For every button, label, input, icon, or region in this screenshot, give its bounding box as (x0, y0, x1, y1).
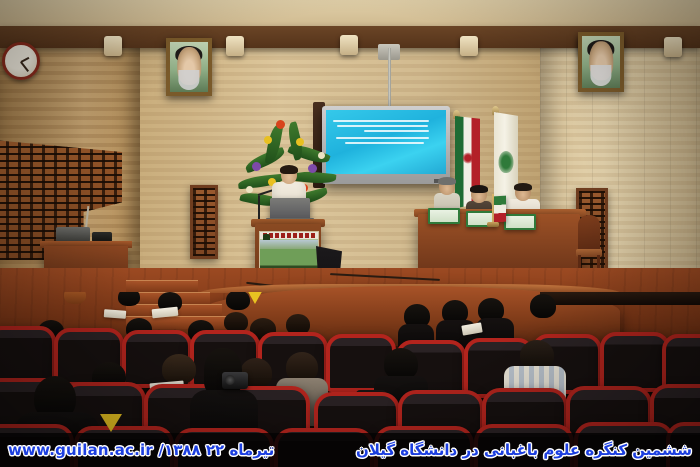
slide-text-line (364, 130, 429, 132)
slide-text-line (333, 120, 429, 122)
iran-emblem-icon (462, 153, 473, 164)
portrait-left (166, 38, 212, 96)
banner-landscape (260, 240, 318, 250)
presenter-laptop[interactable] (270, 198, 310, 220)
audience-paper (104, 309, 127, 319)
slide-text-line (345, 142, 424, 144)
camera-icon (222, 372, 248, 389)
nameplate (504, 214, 536, 230)
audience-paper (152, 307, 179, 319)
ceiling (0, 0, 700, 28)
downlight-icon (460, 36, 478, 56)
caption-left-text: www.guilan.ac.ir /۱۳۸۸ تیرماه ۲۲ (8, 441, 274, 459)
chair-back (578, 215, 600, 251)
clock-minute-hand (20, 61, 29, 71)
beard-shape (178, 70, 199, 90)
audience-head (162, 354, 196, 384)
projection-screen[interactable] (322, 106, 450, 184)
portrait-right (578, 32, 624, 92)
panel-table (418, 214, 580, 270)
caption-right-text: ششمین کنگره علوم باغبانی در دانشگاه گیلا… (356, 441, 692, 459)
presenter-hair (280, 165, 298, 174)
panelist-hair (514, 183, 532, 191)
audience-head (64, 292, 86, 304)
desk-flag-base (487, 222, 499, 227)
audience-head (530, 294, 556, 318)
audience-head (118, 292, 140, 306)
institution-emblem-icon (499, 151, 514, 173)
downlight-icon (104, 36, 122, 56)
conference-photo: www.guilan.ac.ir /۱۳۸۸ تیرماه ۲۲ ششمین ک… (0, 0, 700, 467)
audience-head (226, 292, 250, 310)
louvre-panel-stage-left (190, 185, 218, 259)
panelist-hair (438, 177, 456, 185)
banner-title-text (263, 233, 315, 238)
wall-clock (2, 42, 40, 80)
caption-bar: www.guilan.ac.ir /۱۳۸۸ تیرماه ۲۲ ششمین ک… (0, 433, 700, 467)
iran-desk-flag (494, 196, 506, 223)
downlight-icon (340, 35, 358, 55)
slide-text-line (337, 125, 428, 127)
nameplate (428, 208, 460, 224)
slide-text-line (336, 137, 430, 139)
screen-surface (326, 110, 446, 174)
audience-seat (0, 326, 56, 384)
panelist-hair (470, 185, 488, 193)
audience-head (224, 312, 248, 332)
av-equipment (56, 227, 90, 242)
beard-shape (590, 65, 611, 86)
downlight-icon (226, 36, 244, 56)
audience-seat (600, 332, 670, 392)
downlight-icon (664, 37, 682, 57)
